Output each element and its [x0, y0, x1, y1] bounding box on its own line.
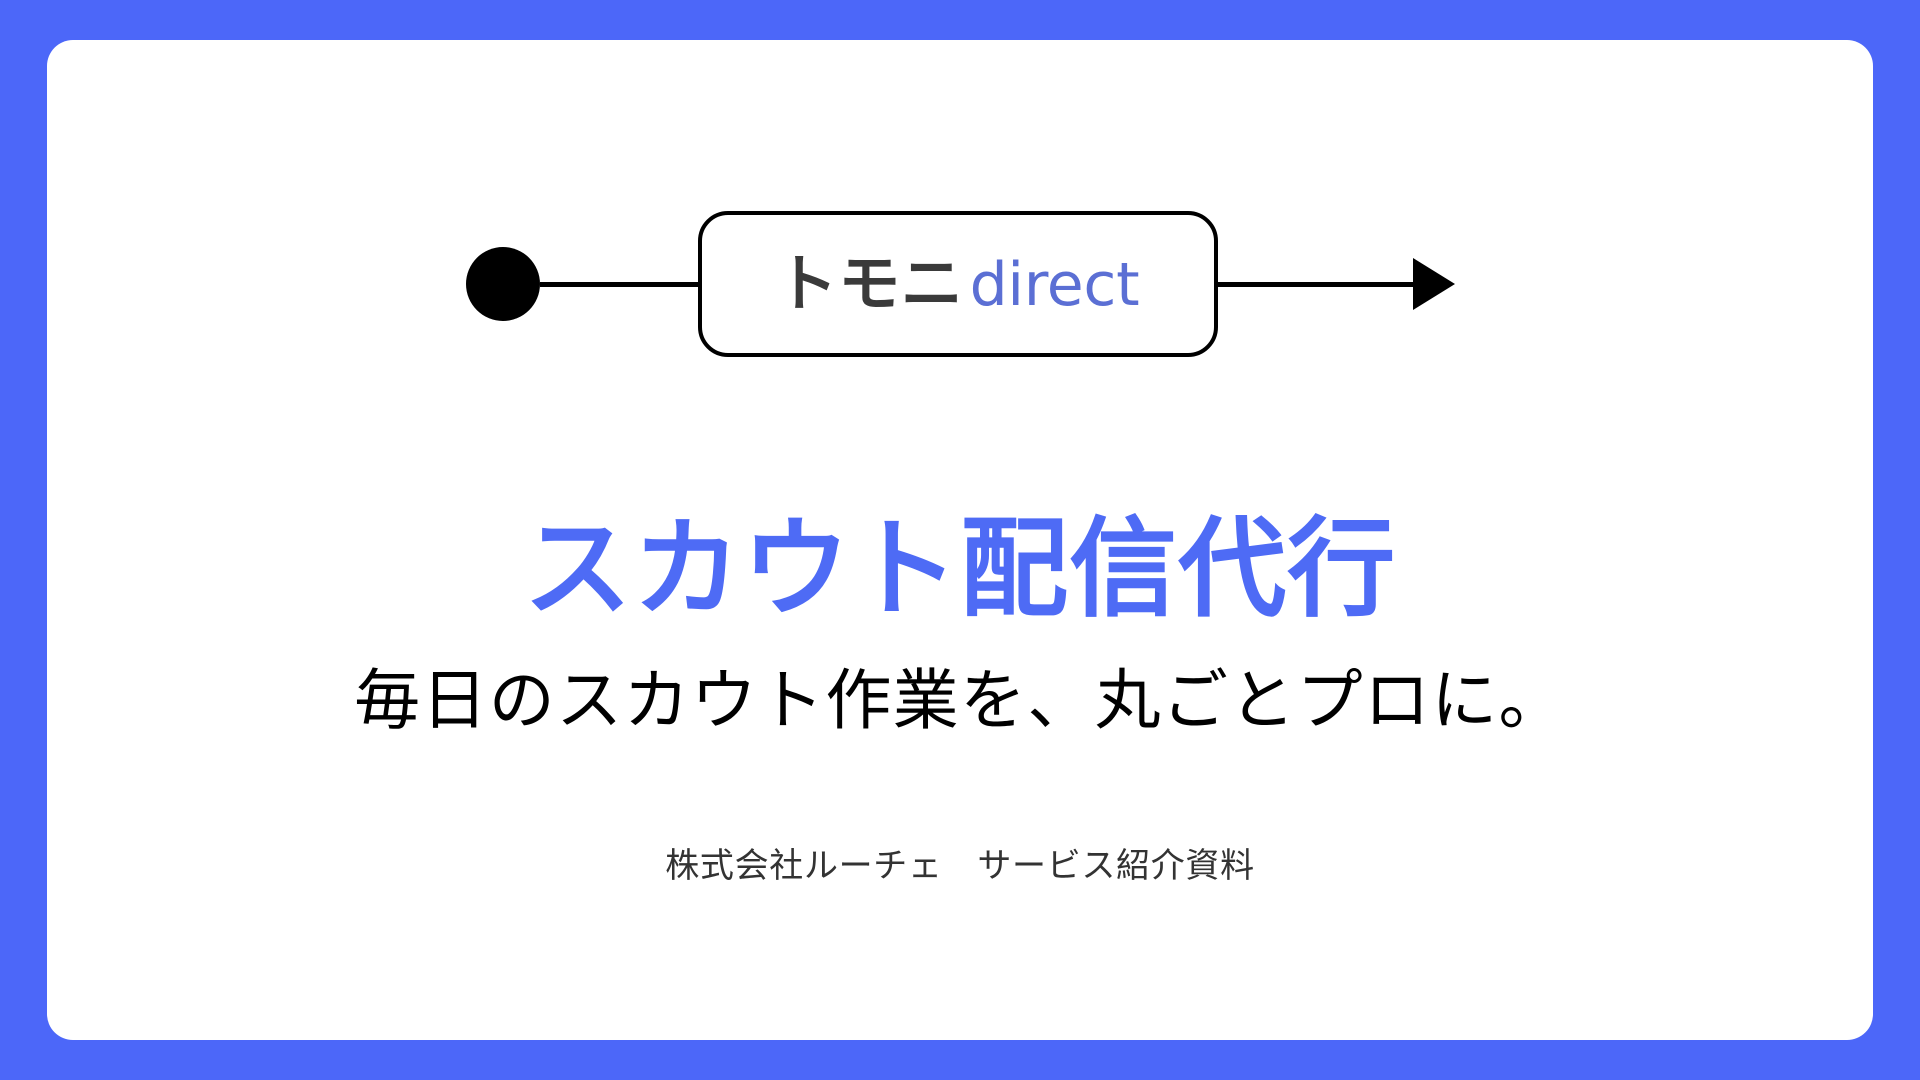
title-slide: トモニ direct スカウト配信代行 毎日のスカウト作業を、丸ごとプロに。 株…	[0, 0, 1920, 1080]
logo-chip: トモニ direct	[698, 211, 1218, 357]
page-subtitle: 毎日のスカウト作業を、丸ごとプロに。	[47, 660, 1873, 743]
slide-card: トモニ direct スカウト配信代行 毎日のスカウト作業を、丸ごとプロに。 株…	[47, 40, 1873, 1040]
brand-flow-diagram: トモニ direct	[47, 208, 1873, 360]
logo-wordmark: トモニ direct	[776, 253, 1140, 315]
logo-jp-text: トモニ	[776, 253, 964, 315]
flow-connector-line-left	[540, 282, 698, 287]
flow-start-dot-icon	[466, 247, 540, 321]
page-title: スカウト配信代行	[47, 512, 1873, 629]
logo-en-text: direct	[970, 255, 1140, 315]
flow-arrowhead-icon	[1413, 258, 1455, 310]
footer-credit: 株式会社ルーチェ サービス紹介資料	[47, 838, 1873, 887]
flow-connector-line-right	[1218, 282, 1414, 287]
